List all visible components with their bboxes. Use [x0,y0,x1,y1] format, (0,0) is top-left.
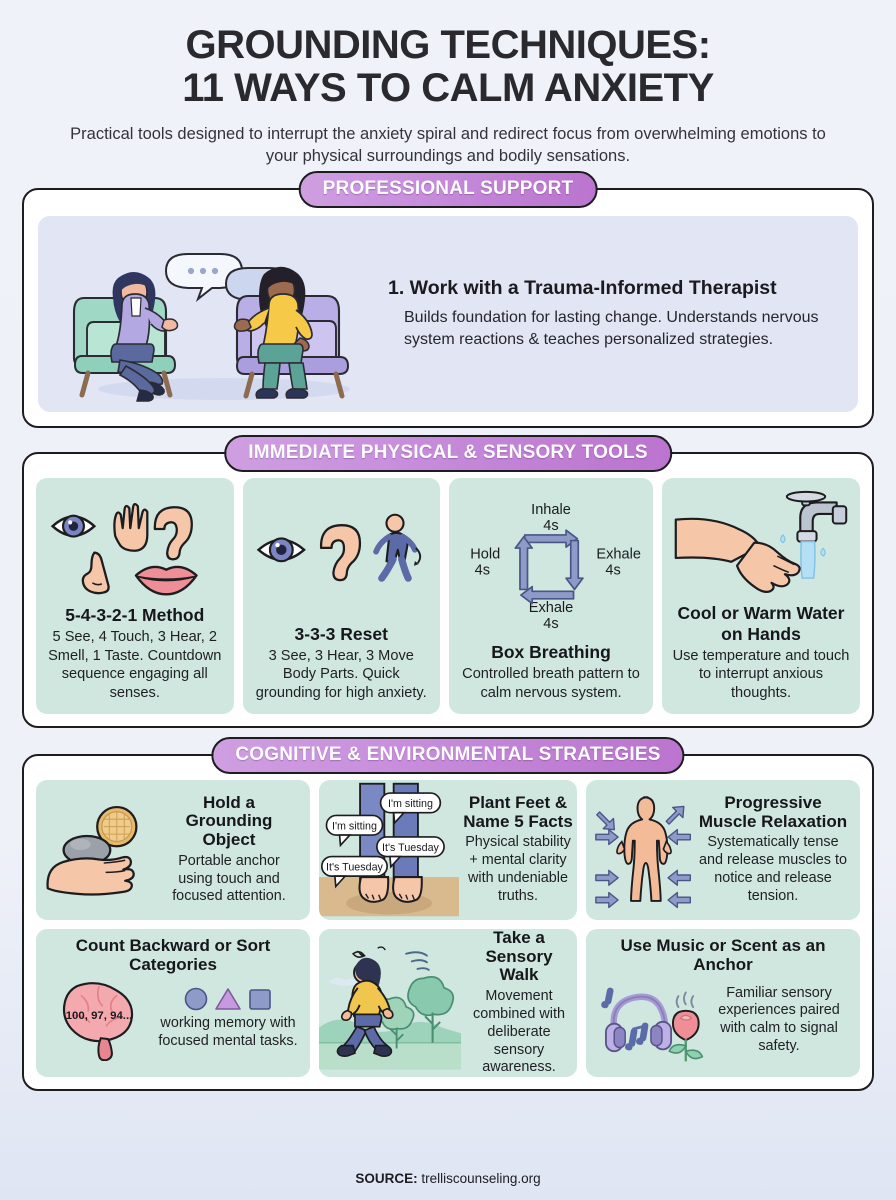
bubble-label: I'm sitting [332,820,377,832]
two-women-talking-illustration [52,226,382,402]
card-title: 3-3-3 Reset [251,624,433,645]
card-sensory-walk: Take a Sensory Walk Movement combined wi… [319,929,577,1077]
card-box-breathing: Inhale 4s Hold 4s Exhale 4s Exhale 4s [449,478,653,714]
cognitive-row-2: Count Backward or Sort Categories 100, 9… [36,929,860,1077]
section-body-cognitive-strategies: Hold a Grounding Object Portable anchor … [22,754,874,1091]
section-body-professional-support: 1. Work with a Trauma-Informed Therapist… [22,188,874,428]
headphones-and-rose [594,977,706,1063]
card-title: Box Breathing [457,642,645,663]
card-plant-feet-name-facts: I'm sitting I'm sitting It's Tuesday It'… [319,780,577,920]
cognitive-row-1: Hold a Grounding Object Portable anchor … [36,780,860,920]
card-text-block: Take a Sensory Walk Movement combined wi… [461,929,577,1077]
hand-holding-stone [44,798,156,902]
card-text-block: Progressive Muscle Relaxation Systematic… [694,794,852,906]
card-title: 5-4-3-2-1 Method [44,605,226,626]
triangle-shape-icon [215,987,241,1011]
bubble-label: I'm sitting [388,798,433,810]
square-shape-icon [248,987,272,1011]
card-text-block: Familiar sensory experiences paired with… [706,985,852,1056]
brain-and-shapes: 100, 97, 94... [44,977,154,1061]
card-description: Systematically tense and release muscles… [698,834,848,905]
card-title: Cool or Warm Water on Hands [670,603,852,645]
card-54321-method: 5-4-3-2-1 Method 5 See, 4 Touch, 3 Hear,… [36,478,234,714]
card-description: Controlled breath pattern to calm nervou… [457,665,645,702]
section-pill-professional-support: PROFESSIONAL SUPPORT [299,171,598,208]
hero-text-block: 1. Work with a Trauma-Informed Therapist… [382,277,844,350]
hero-title: 1. Work with a Trauma-Informed Therapist [388,277,834,300]
card-description: 5 See, 4 Touch, 3 Hear, 2 Smell, 1 Taste… [44,628,226,702]
box-breathing-diagram: Inhale 4s Hold 4s Exhale 4s Exhale 4s [457,488,645,642]
section-pill-immediate-tools: IMMEDIATE PHYSICAL & SENSORY TOOLS [224,435,672,472]
card-description: working memory with focused mental tasks… [158,1015,298,1051]
hero-description: Builds foundation for lasting change. Un… [388,307,834,350]
eye-ear-walker-icons [251,488,433,624]
card-text-block: Plant Feet & Name 5 Facts Physical stabi… [459,794,577,906]
sorting-shapes-icons [158,987,298,1011]
page-title: GROUNDING TECHNIQUES: 11 WAYS TO CALM AN… [40,24,856,110]
card-title: Use Music or Scent as an Anchor [594,937,852,974]
hero-card-therapist: 1. Work with a Trauma-Informed Therapist… [38,216,858,412]
section-cognitive-environmental-strategies: COGNITIVE & ENVIRONMENTAL STRATEGIES [22,754,874,1091]
footer-source-value: trelliscounseling.org [421,1171,540,1186]
title-line-1: GROUNDING TECHNIQUES: [185,23,710,67]
bare-feet-speech-bubbles: I'm sitting I'm sitting It's Tuesday It'… [319,780,459,920]
bubble-label: It's Tuesday [382,842,439,854]
infographic-header: GROUNDING TECHNIQUES: 11 WAYS TO CALM AN… [0,0,896,168]
sensory-tools-row: 5-4-3-2-1 Method 5 See, 4 Touch, 3 Hear,… [36,478,860,714]
breathing-right-label: Exhale [596,546,641,562]
card-description: Familiar sensory experiences paired with… [710,985,848,1056]
breathing-bottom-time: 4s [543,616,558,631]
breathing-left-label: Hold [470,546,500,562]
breathing-bottom-label: Exhale [529,600,574,616]
card-title: Take a Sensory Walk [465,929,573,985]
card-title: Plant Feet & Name 5 Facts [463,794,573,831]
card-hold-grounding-object: Hold a Grounding Object Portable anchor … [36,780,310,920]
brain-count-label: 100, 97, 94... [66,1010,133,1022]
breathing-right-time: 4s [605,562,620,578]
card-text-block: working memory with focused mental tasks… [154,987,302,1051]
circle-shape-icon [184,987,208,1011]
body-with-arrows [594,788,694,912]
card-music-or-scent-anchor: Use Music or Scent as an Anchor [586,929,860,1077]
hands-under-faucet [670,488,852,603]
card-333-reset: 3-3-3 Reset 3 See, 3 Hear, 3 Move Body P… [243,478,441,714]
card-text-block: Hold a Grounding Object Portable anchor … [156,794,302,907]
card-cool-warm-water: Cool or Warm Water on Hands Use temperat… [662,478,860,714]
card-progressive-muscle-relaxation: Progressive Muscle Relaxation Systematic… [586,780,860,920]
card-title: Count Backward or Sort Categories [44,937,302,974]
woman-walking-outdoors [319,933,461,1073]
card-title: Hold a Grounding Object [160,794,298,850]
card-description: 3 See, 3 Hear, 3 Move Body Parts. Quick … [251,647,433,702]
bubble-label: It's Tuesday [326,861,383,873]
breathing-left-time: 4s [475,562,490,578]
section-body-immediate-tools: 5-4-3-2-1 Method 5 See, 4 Touch, 3 Hear,… [22,452,874,728]
card-count-backward-sort-categories: Count Backward or Sort Categories 100, 9… [36,929,310,1077]
title-line-2: 11 WAYS TO CALM ANXIETY [40,67,856,110]
page-subtitle: Practical tools designed to interrupt th… [53,124,843,168]
card-title: Progressive Muscle Relaxation [698,794,848,831]
card-description: Movement combined with deliberate sensor… [465,988,573,1077]
card-description: Use temperature and touch to interrupt a… [670,647,852,702]
section-professional-support: PROFESSIONAL SUPPORT [22,188,874,428]
senses-icons [44,488,226,606]
card-description: Physical stability + mental clarity with… [463,834,573,905]
card-description: Portable anchor using touch and focused … [160,853,298,907]
footer-source-label: SOURCE: [355,1171,417,1186]
section-immediate-physical-sensory-tools: IMMEDIATE PHYSICAL & SENSORY TOOLS [22,452,874,728]
section-pill-cognitive-strategies: COGNITIVE & ENVIRONMENTAL STRATEGIES [211,737,684,774]
breathing-top-time: 4s [543,518,558,534]
breathing-top-label: Inhale [531,502,571,518]
footer-source: SOURCE: trelliscounseling.org [0,1171,896,1186]
